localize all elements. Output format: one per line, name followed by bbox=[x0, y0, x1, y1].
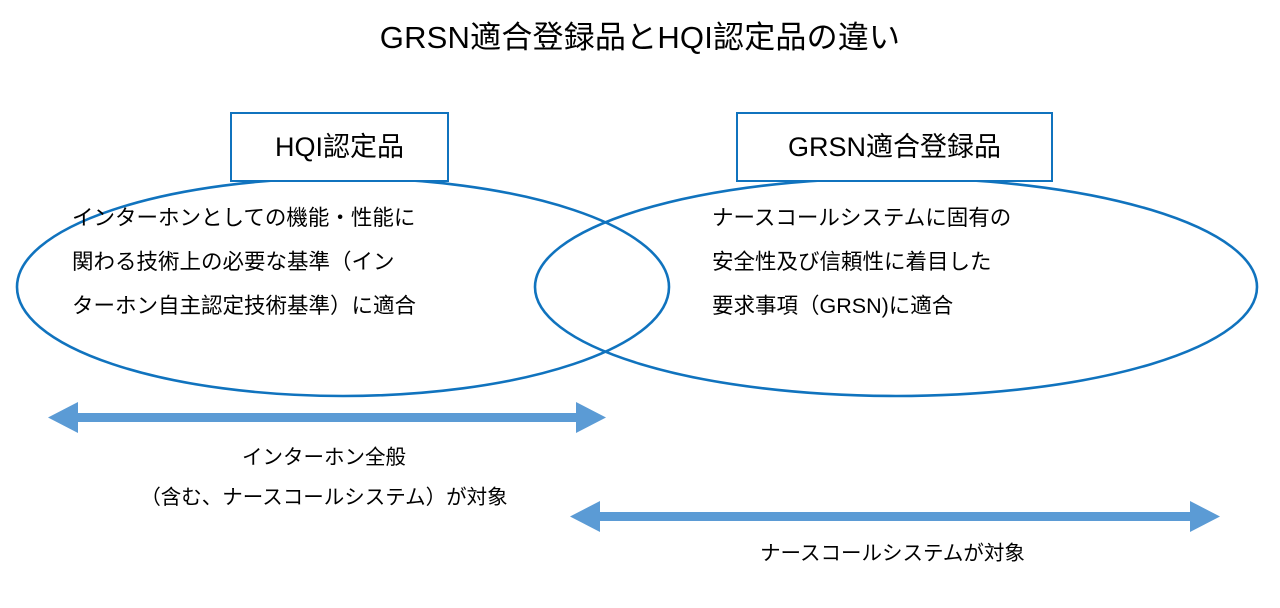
label-box-grsn-text: GRSN適合登録品 bbox=[788, 132, 1001, 162]
grsn-description: ナースコールシステムに固有の 安全性及び信頼性に着目した 要求事項（GRSN)に… bbox=[712, 196, 1011, 328]
grsn-description-line-3: 要求事項（GRSN)に適合 bbox=[712, 284, 1011, 328]
arrow-head-right-icon bbox=[576, 402, 606, 433]
label-box-hqi-text: HQI認定品 bbox=[275, 132, 404, 162]
arrow-head-right-icon bbox=[1190, 501, 1220, 532]
nurse-call-scope-arrow bbox=[570, 501, 1220, 532]
grsn-description-line-1: ナースコールシステムに固有の bbox=[712, 196, 1011, 240]
intercom-scope-arrow bbox=[48, 402, 606, 433]
hqi-description: インターホンとしての機能・性能に 関わる技術上の必要な基準（イン ターホン自主認… bbox=[72, 196, 416, 328]
grsn-description-line-2: 安全性及び信頼性に着目した bbox=[712, 240, 1011, 284]
hqi-description-line-2: 関わる技術上の必要な基準（イン bbox=[72, 240, 416, 284]
intercom-scope-caption-line-2: （含む、ナースコールシステム）が対象 bbox=[50, 478, 598, 518]
diagram-canvas: GRSN適合登録品とHQI認定品の違い HQI認定品 GRSN適合登録品 インタ… bbox=[0, 0, 1280, 608]
intercom-scope-caption: インターホン全般 （含む、ナースコールシステム）が対象 bbox=[50, 438, 598, 518]
intercom-scope-caption-line-1: インターホン全般 bbox=[50, 438, 598, 478]
nurse-call-scope-caption: ナースコールシステムが対象 bbox=[570, 534, 1215, 574]
label-box-grsn: GRSN適合登録品 bbox=[736, 112, 1053, 182]
hqi-description-line-3: ターホン自主認定技術基準）に適合 bbox=[72, 284, 416, 328]
nurse-call-scope-caption-line-1: ナースコールシステムが対象 bbox=[570, 534, 1215, 574]
page-title: GRSN適合登録品とHQI認定品の違い bbox=[0, 18, 1280, 58]
arrow-head-left-icon bbox=[48, 402, 78, 433]
label-box-hqi: HQI認定品 bbox=[230, 112, 449, 182]
hqi-description-line-1: インターホンとしての機能・性能に bbox=[72, 196, 416, 240]
